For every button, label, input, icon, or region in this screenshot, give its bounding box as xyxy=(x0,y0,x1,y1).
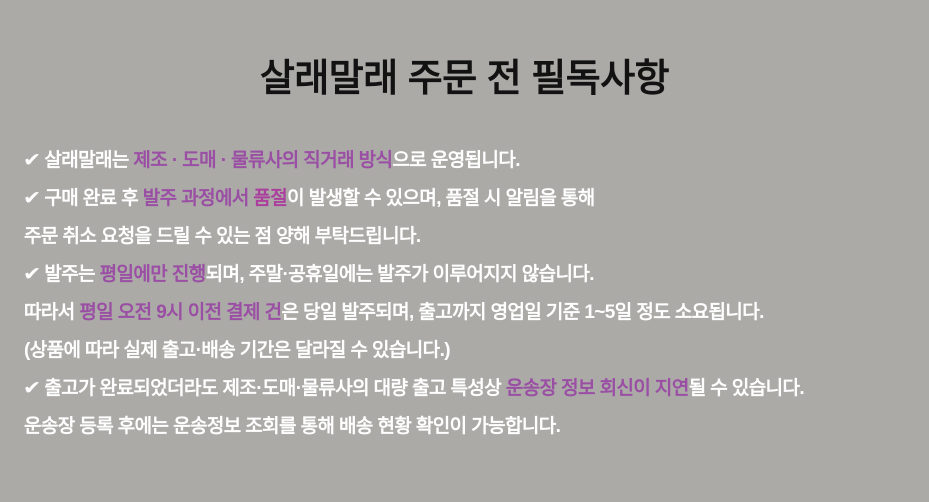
checkmark-icon: ✔ xyxy=(23,180,41,218)
checkmark-icon: ✔ xyxy=(23,370,41,408)
notice-text-segment: 평일에만 진행 xyxy=(100,264,206,285)
notice-text-segment: 운송장 정보 회신이 지연 xyxy=(506,378,689,399)
notice-text-segment: 살래말래는 xyxy=(44,150,133,171)
notice-line: 따라서 평일 오전 9시 이전 결제 건은 당일 발주되며, 출고까지 영업일 … xyxy=(24,294,924,332)
notice-text-segment: 발주 과정에서 xyxy=(143,188,254,209)
notice-text-segment: 될 수 있습니다. xyxy=(689,378,804,399)
notice-banner: 살래말래 주문 전 필독사항 ✔살래말래는 제조 · 도매 · 물류사의 직거래… xyxy=(0,0,929,502)
notice-text-segment: 제조 · 도매 · 물류사의 직거래 방식 xyxy=(133,150,392,171)
notice-line: (상품에 따라 실제 출고·배송 기간은 달라질 수 있습니다.) xyxy=(24,332,924,370)
notice-text-segment: 운송장 등록 후에는 운송정보 조회를 통해 배송 현황 확인이 가능합니다. xyxy=(24,416,560,437)
notice-text-segment: 되며, 주말·공휴일에는 발주가 이루어지지 않습니다. xyxy=(206,264,594,285)
notice-line: ✔출고가 완료되었더라도 제조·도매·물류사의 대량 출고 특성상 운송장 정보… xyxy=(24,370,924,408)
notice-line: ✔구매 완료 후 발주 과정에서 품절이 발생할 수 있으며, 품절 시 알림을… xyxy=(24,180,924,218)
notice-line: 운송장 등록 후에는 운송정보 조회를 통해 배송 현황 확인이 가능합니다. xyxy=(24,408,924,446)
checkmark-icon: ✔ xyxy=(23,142,41,180)
notice-text-segment: 평일 오전 9시 이전 결제 건 xyxy=(79,302,281,323)
notice-text-segment: 주문 취소 요청을 드릴 수 있는 점 양해 부탁드립니다. xyxy=(24,226,421,247)
notice-text-segment: 품절 xyxy=(253,188,287,209)
notice-text-segment: 따라서 xyxy=(24,302,79,323)
notice-text-segment: 이 발생할 수 있으며, 품절 시 알림을 통해 xyxy=(287,188,595,209)
notice-line: ✔발주는 평일에만 진행되며, 주말·공휴일에는 발주가 이루어지지 않습니다. xyxy=(24,256,924,294)
notice-line-list: ✔살래말래는 제조 · 도매 · 물류사의 직거래 방식으로 운영됩니다.✔구매… xyxy=(24,142,924,446)
notice-text-segment: 발주는 xyxy=(44,264,99,285)
page-title: 살래말래 주문 전 필독사항 xyxy=(0,55,929,103)
checkmark-icon: ✔ xyxy=(23,256,41,294)
notice-line: ✔살래말래는 제조 · 도매 · 물류사의 직거래 방식으로 운영됩니다. xyxy=(24,142,924,180)
notice-text-segment: 으로 운영됩니다. xyxy=(392,150,520,171)
notice-text-segment: (상품에 따라 실제 출고·배송 기간은 달라질 수 있습니다.) xyxy=(24,340,450,361)
notice-text-segment: 은 당일 발주되며, 출고까지 영업일 기준 1~5일 정도 소요됩니다. xyxy=(282,302,764,323)
notice-text-segment: 출고가 완료되었더라도 제조·도매·물류사의 대량 출고 특성상 xyxy=(44,378,506,399)
notice-line: 주문 취소 요청을 드릴 수 있는 점 양해 부탁드립니다. xyxy=(24,218,924,256)
notice-text-segment: 구매 완료 후 xyxy=(44,188,142,209)
